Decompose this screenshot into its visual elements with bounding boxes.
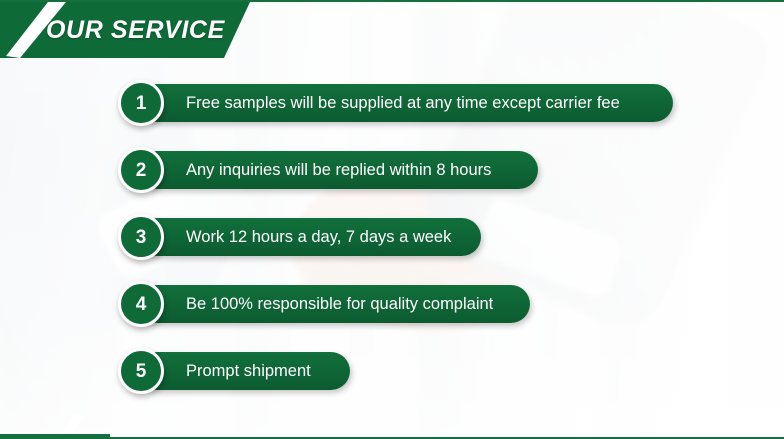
our-service-banner: OUR SERVICE Free samples will be supplie…	[0, 0, 784, 439]
service-number: 1	[136, 94, 147, 113]
service-text: Any inquiries will be replied within 8 h…	[186, 162, 491, 179]
service-list: Free samples will be supplied at any tim…	[0, 80, 784, 394]
service-item-3[interactable]: Work 12 hours a day, 7 days a week 3	[0, 214, 784, 260]
service-text: Be 100% responsible for quality complain…	[186, 296, 493, 313]
service-text: Prompt shipment	[186, 363, 311, 380]
service-pill[interactable]: Be 100% responsible for quality complain…	[138, 285, 530, 323]
service-pill[interactable]: Any inquiries will be replied within 8 h…	[138, 151, 538, 189]
header-banner: OUR SERVICE	[0, 2, 250, 58]
service-number-badge: 2	[118, 147, 164, 193]
service-number-badge: 1	[118, 80, 164, 126]
service-item-5[interactable]: Prompt shipment 5	[0, 348, 784, 394]
service-number: 3	[136, 228, 147, 247]
service-text: Work 12 hours a day, 7 days a week	[186, 229, 451, 246]
service-number-badge: 4	[118, 281, 164, 327]
service-item-1[interactable]: Free samples will be supplied at any tim…	[0, 80, 784, 126]
service-number-badge: 3	[118, 214, 164, 260]
page-title: OUR SERVICE	[46, 2, 225, 58]
service-text: Free samples will be supplied at any tim…	[186, 95, 620, 112]
service-item-4[interactable]: Be 100% responsible for quality complain…	[0, 281, 784, 327]
service-pill[interactable]: Prompt shipment	[138, 352, 350, 390]
service-number-badge: 5	[118, 348, 164, 394]
service-number: 5	[136, 362, 147, 381]
service-pill[interactable]: Work 12 hours a day, 7 days a week	[138, 218, 481, 256]
service-number: 2	[136, 161, 147, 180]
service-pill[interactable]: Free samples will be supplied at any tim…	[138, 84, 673, 122]
corner-accent-mark	[0, 403, 110, 437]
service-item-2[interactable]: Any inquiries will be replied within 8 h…	[0, 147, 784, 193]
service-number: 4	[136, 295, 147, 314]
